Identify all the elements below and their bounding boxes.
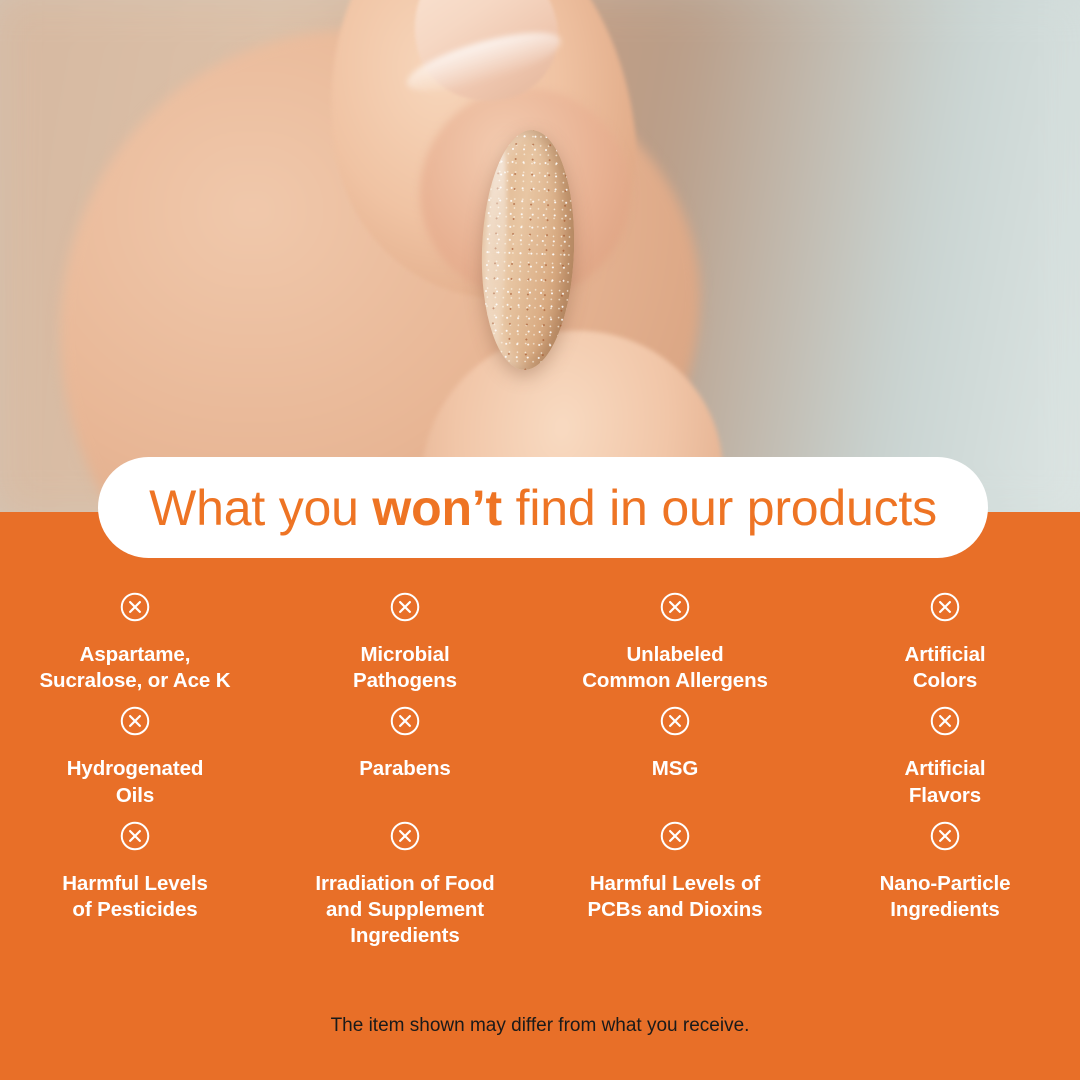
page-title-before: What you bbox=[149, 480, 372, 536]
page-title-emphasis: won’t bbox=[372, 480, 502, 536]
x-circle-icon bbox=[660, 821, 690, 851]
list-item: Hydrogenated Oils bbox=[0, 694, 270, 808]
list-item: Unlabeled Common Allergens bbox=[540, 580, 810, 694]
x-circle-icon bbox=[660, 706, 690, 736]
list-item: Irradiation of Food and Supplement Ingre… bbox=[270, 809, 540, 950]
supplement-tablet bbox=[478, 128, 578, 371]
list-item-label: Artificial Flavors bbox=[816, 756, 1074, 808]
list-item-label: Irradiation of Food and Supplement Ingre… bbox=[276, 871, 534, 950]
list-item: Harmful Levels of PCBs and Dioxins bbox=[540, 809, 810, 950]
list-item: Artificial Colors bbox=[810, 580, 1080, 694]
list-item-label: Microbial Pathogens bbox=[276, 642, 534, 694]
x-circle-icon bbox=[660, 592, 690, 622]
list-item-label: MSG bbox=[546, 756, 804, 782]
x-circle-icon bbox=[930, 592, 960, 622]
x-circle-icon bbox=[930, 821, 960, 851]
x-circle-icon bbox=[390, 821, 420, 851]
list-item: MSG bbox=[540, 694, 810, 808]
title-card: What you won’t find in our products bbox=[98, 457, 988, 558]
list-item: Harmful Levels of Pesticides bbox=[0, 809, 270, 950]
page-title-after: find in our products bbox=[502, 480, 937, 536]
promo-poster: What you won’t find in our products Aspa… bbox=[0, 0, 1080, 1080]
list-item: Artificial Flavors bbox=[810, 694, 1080, 808]
list-item-label: Harmful Levels of PCBs and Dioxins bbox=[546, 871, 804, 923]
page-title: What you won’t find in our products bbox=[149, 483, 937, 533]
hero-photo bbox=[0, 0, 1080, 512]
disclaimer-note: The item shown may differ from what you … bbox=[0, 1015, 1080, 1037]
list-item-label: Harmful Levels of Pesticides bbox=[6, 871, 264, 923]
list-item: Microbial Pathogens bbox=[270, 580, 540, 694]
x-circle-icon bbox=[120, 592, 150, 622]
excluded-ingredients-grid: Aspartame, Sucralose, or Ace K Microbial… bbox=[0, 580, 1080, 950]
list-item-label: Parabens bbox=[276, 756, 534, 782]
list-item-label: Aspartame, Sucralose, or Ace K bbox=[6, 642, 264, 694]
list-item: Aspartame, Sucralose, or Ace K bbox=[0, 580, 270, 694]
list-item-label: Nano-Particle Ingredients bbox=[816, 871, 1074, 923]
x-circle-icon bbox=[390, 592, 420, 622]
x-circle-icon bbox=[120, 821, 150, 851]
x-circle-icon bbox=[120, 706, 150, 736]
list-item-label: Artificial Colors bbox=[816, 642, 1074, 694]
x-circle-icon bbox=[390, 706, 420, 736]
list-item-label: Unlabeled Common Allergens bbox=[546, 642, 804, 694]
list-item: Nano-Particle Ingredients bbox=[810, 809, 1080, 950]
list-item: Parabens bbox=[270, 694, 540, 808]
list-item-label: Hydrogenated Oils bbox=[6, 756, 264, 808]
x-circle-icon bbox=[930, 706, 960, 736]
